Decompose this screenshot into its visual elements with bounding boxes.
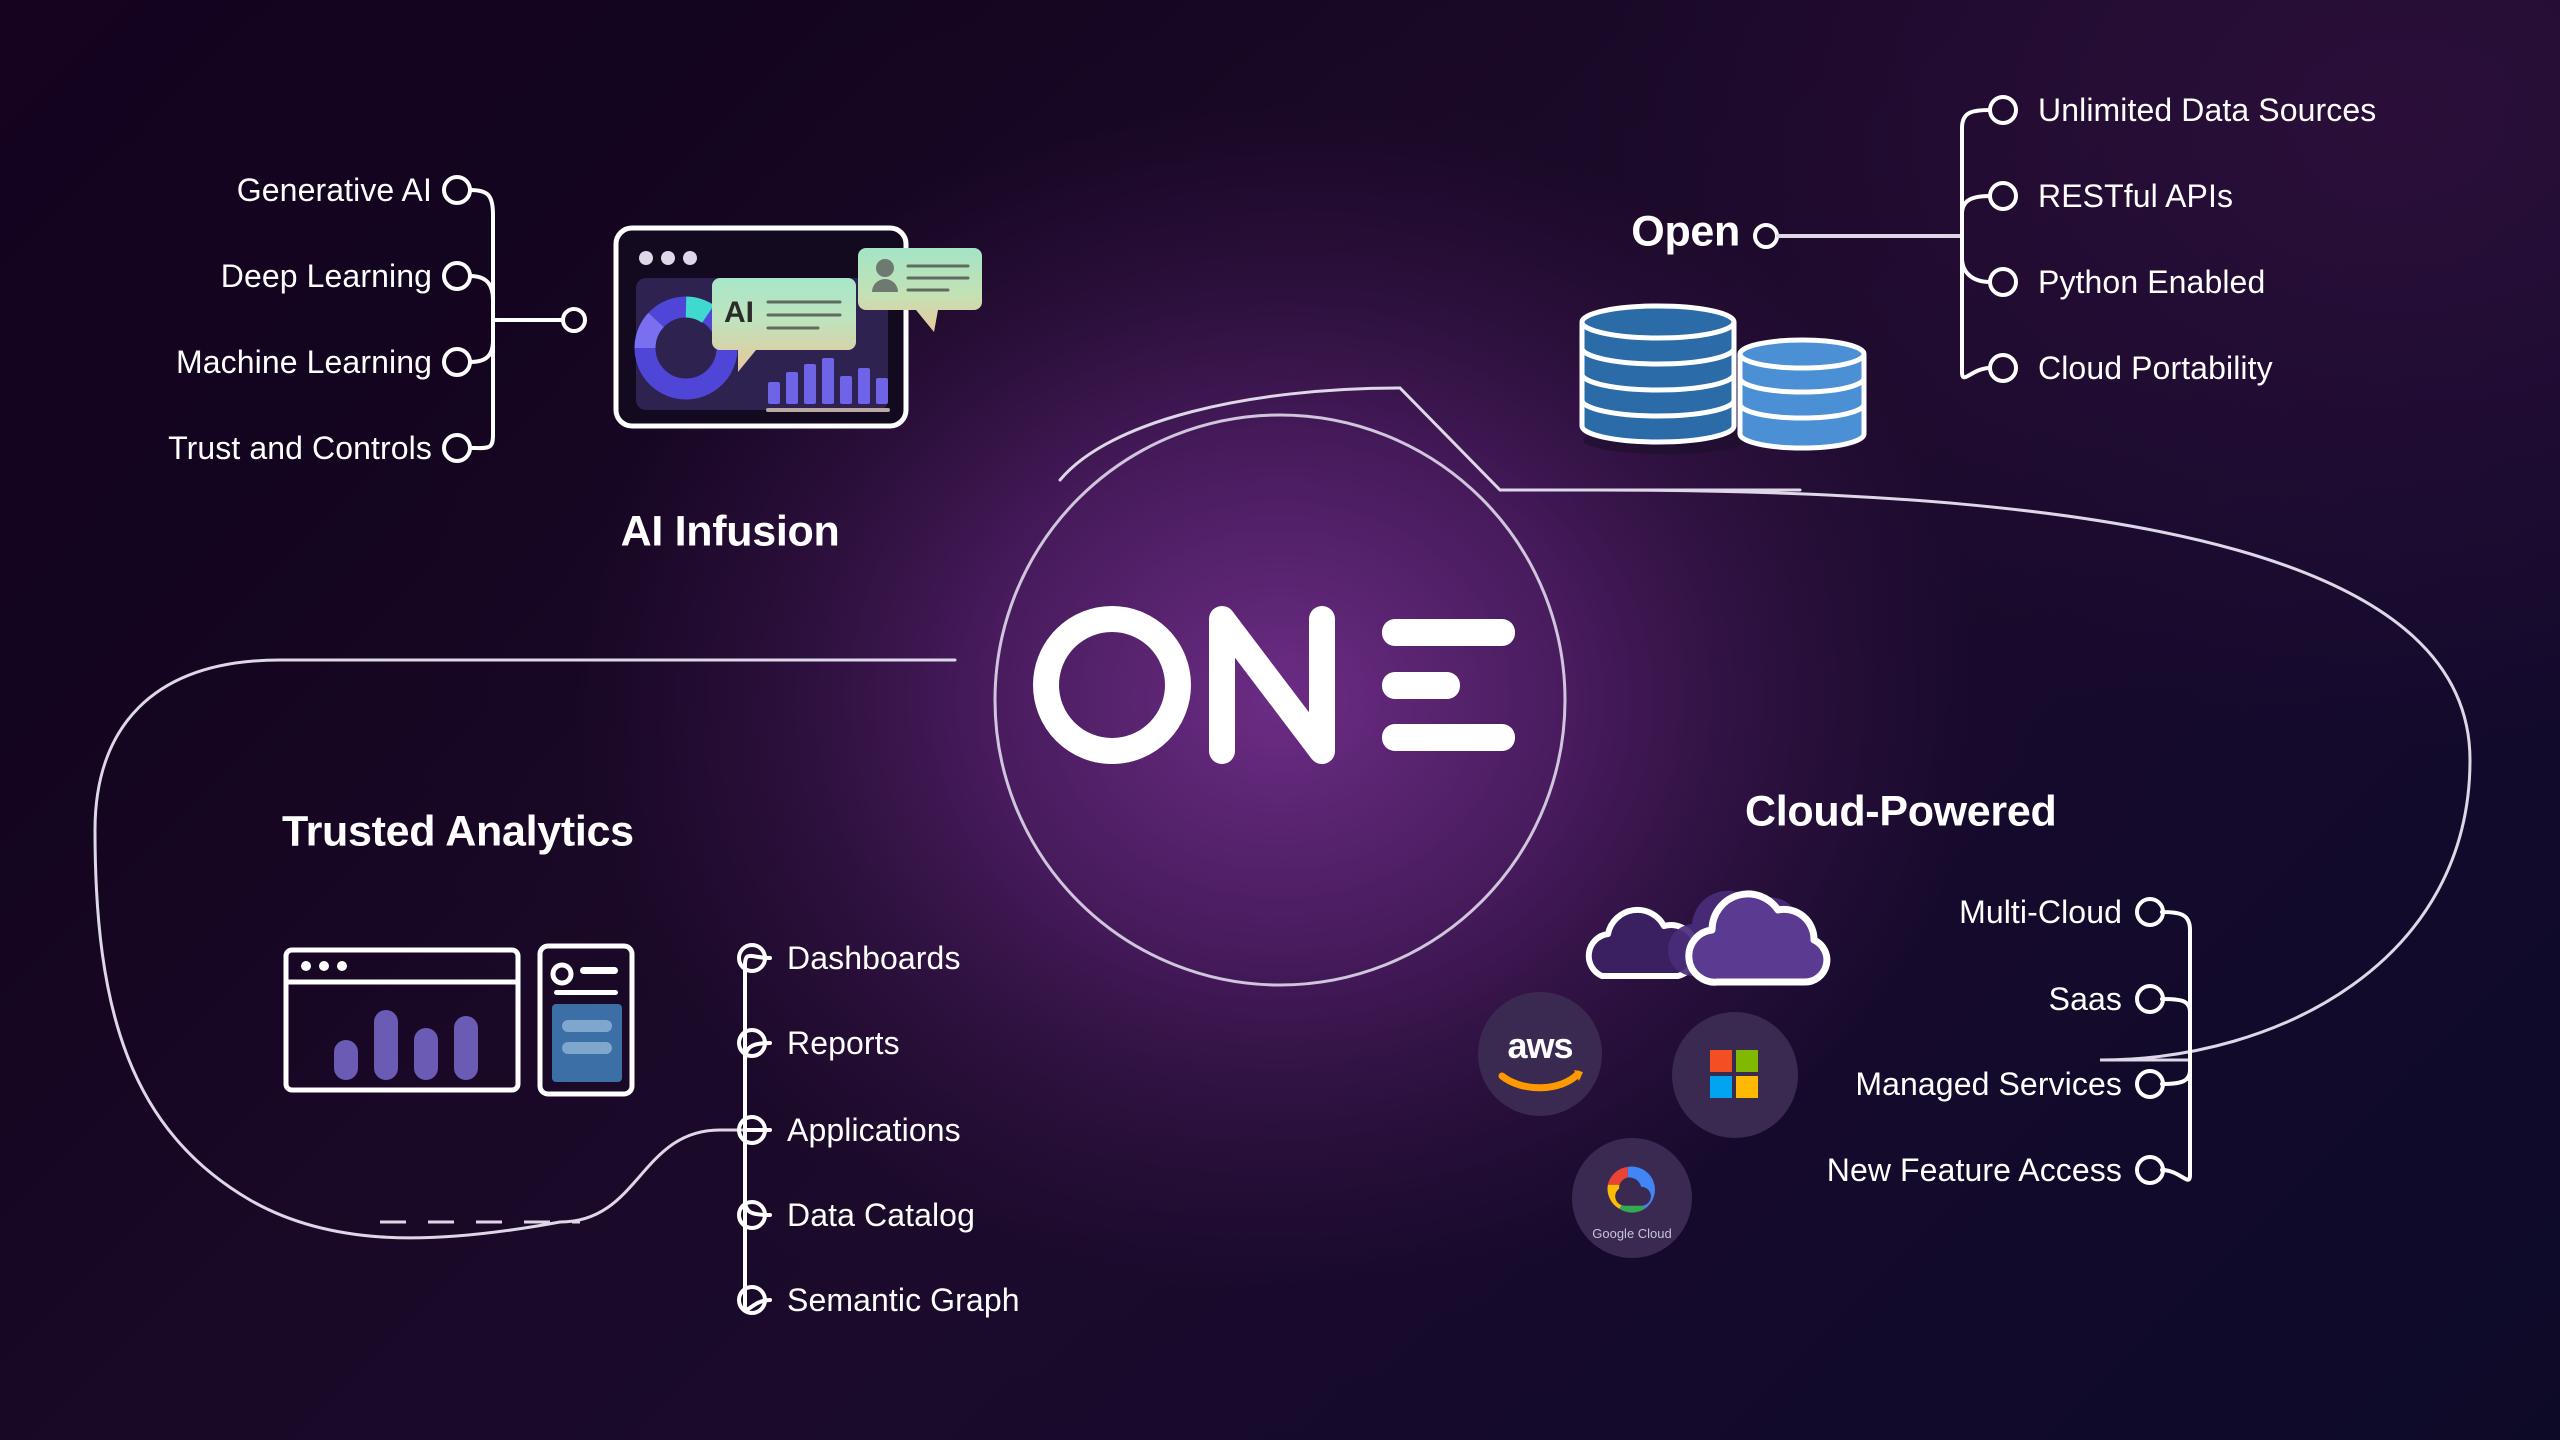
cp-item-new-feature-access[interactable]: New Feature Access <box>1827 1154 2122 1186</box>
cp-item-saas[interactable]: Saas <box>2049 983 2122 1015</box>
cp-item-managed-services[interactable]: Managed Services <box>1855 1068 2122 1100</box>
infographic-canvas: Generative AI Deep Learning Machine Lear… <box>0 0 2560 1440</box>
cloud-powered-branch-connectors <box>0 0 2560 1440</box>
cp-item-multi-cloud[interactable]: Multi-Cloud <box>1959 896 2122 928</box>
